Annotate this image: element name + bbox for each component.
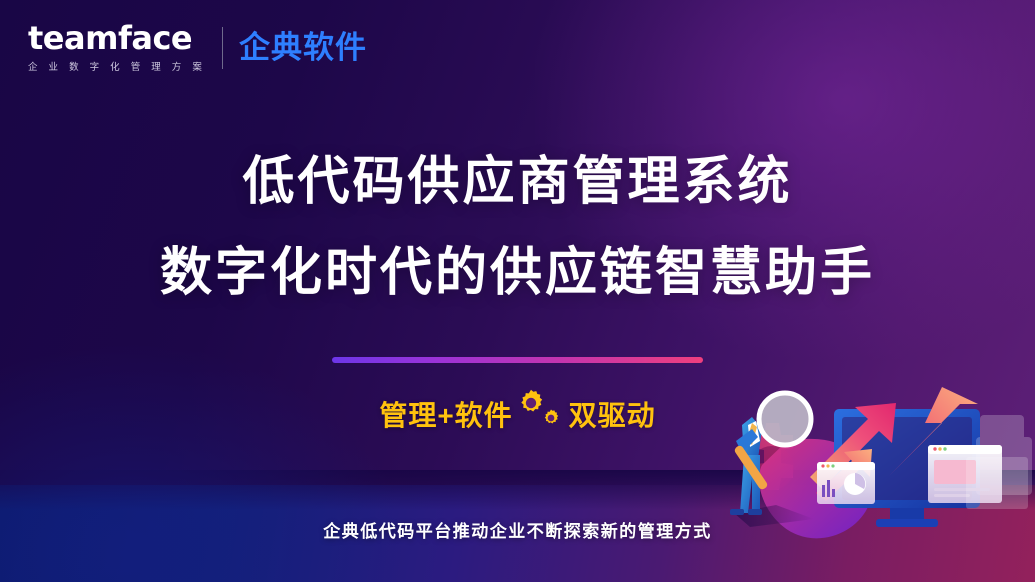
logo-tagline: 企 业 数 字 化 管 理 方 案 bbox=[28, 59, 206, 73]
headline-block: 低代码供应商管理系统 数字化时代的供应链智慧助手 bbox=[0, 152, 1035, 305]
browser-window-chart bbox=[817, 462, 875, 504]
headline-divider bbox=[332, 357, 703, 363]
logo-divider bbox=[222, 27, 223, 69]
logo-chinese-name: 企典软件 bbox=[239, 32, 367, 63]
logo-wordmark: teamface bbox=[28, 22, 192, 54]
tagline-text-after: 双驱动 bbox=[569, 394, 656, 434]
bottom-caption: 企典低代码平台推动企业不断探索新的管理方式 bbox=[0, 517, 1035, 542]
gears-icon bbox=[517, 395, 565, 433]
headline-line-2: 数字化时代的供应链智慧助手 bbox=[0, 243, 1035, 304]
tagline-text-before: 管理+软件 bbox=[379, 394, 512, 434]
browser-window-ghost bbox=[966, 457, 1028, 509]
brand-logo[interactable]: teamface 企 业 数 字 化 管 理 方 案 企典软件 bbox=[28, 22, 367, 73]
presentation-slide: teamface 企 业 数 字 化 管 理 方 案 企典软件 低代码供应商管理… bbox=[0, 0, 1035, 582]
gear-small-icon bbox=[542, 409, 560, 427]
headline-line-1: 低代码供应商管理系统 bbox=[0, 152, 1035, 213]
gear-large-icon bbox=[517, 389, 545, 417]
tagline-block: 管理+软件 双驱动 bbox=[0, 394, 1035, 434]
logo-left-group: teamface 企 业 数 字 化 管 理 方 案 bbox=[28, 22, 206, 73]
